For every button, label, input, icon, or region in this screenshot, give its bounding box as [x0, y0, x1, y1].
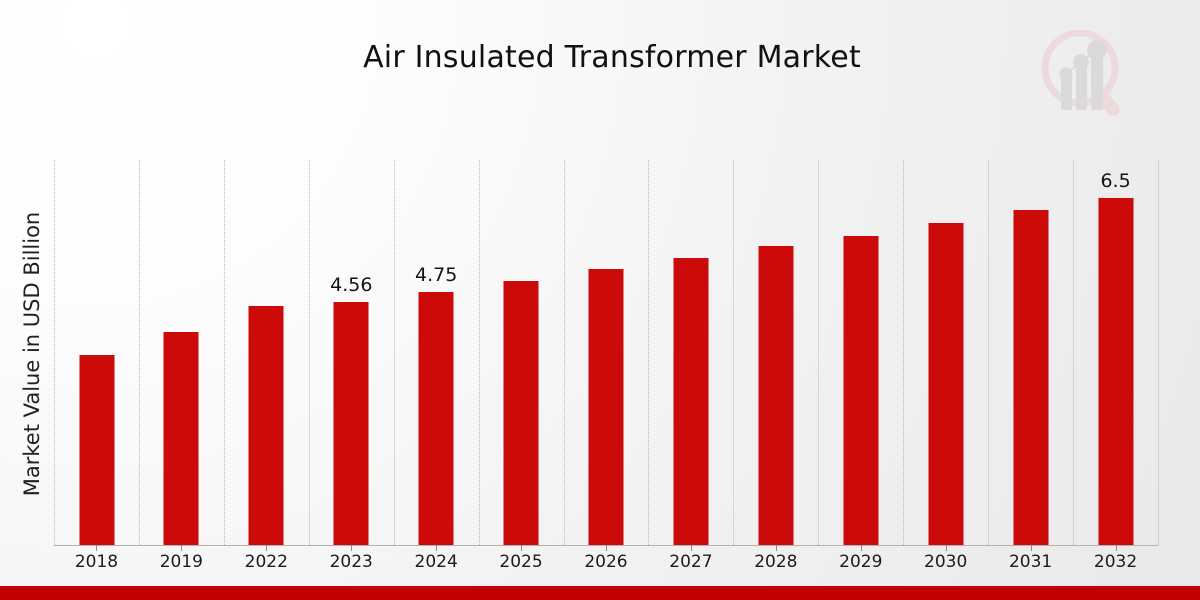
- bar-slot: [903, 160, 988, 545]
- bar-slot: [818, 160, 903, 545]
- chart-page: Air Insulated Transformer Market Market …: [0, 0, 1200, 600]
- bar-value-label-2024: 4.75: [415, 264, 457, 286]
- x-tick-mark: [1031, 545, 1032, 551]
- bar-slot: 6.5: [1073, 160, 1158, 545]
- bar-2022[interactable]: [249, 306, 284, 545]
- bar-slot: [479, 160, 564, 545]
- x-tick-mark: [1116, 545, 1117, 551]
- bar-value-label-2023: 4.56: [330, 274, 372, 296]
- x-tick-mark: [606, 545, 607, 551]
- magnifier-bar-chart-logo: [1034, 24, 1138, 128]
- bar-slot: [564, 160, 649, 545]
- plot-area: 4.564.756.5: [54, 160, 1158, 545]
- bar-2023[interactable]: [334, 302, 369, 545]
- x-tick-mark: [266, 545, 267, 551]
- bar-slot: [139, 160, 224, 545]
- bar-2027[interactable]: [673, 258, 708, 545]
- bar-slot: 4.75: [394, 160, 479, 545]
- bar-slot: [224, 160, 309, 545]
- x-tick-mark: [946, 545, 947, 551]
- x-tick-mark: [181, 545, 182, 551]
- x-tick-mark: [776, 545, 777, 551]
- x-tick-label-2032: 2032: [1056, 552, 1176, 572]
- footer-accent-bar: [0, 586, 1200, 600]
- bar-slot: [733, 160, 818, 545]
- bar-2025[interactable]: [504, 281, 539, 545]
- bar-slot: [988, 160, 1073, 545]
- bar-2029[interactable]: [843, 236, 878, 545]
- bar-2031[interactable]: [1013, 210, 1048, 545]
- bar-2030[interactable]: [928, 223, 963, 545]
- x-tick-mark: [691, 545, 692, 551]
- x-tick-mark: [351, 545, 352, 551]
- gridline: [1158, 160, 1159, 545]
- page-title: Air Insulated Transformer Market: [0, 40, 1200, 75]
- bar-value-label-2032: 6.5: [1100, 170, 1130, 192]
- y-axis-title: Market Value in USD Billion: [20, 154, 44, 554]
- x-tick-mark: [861, 545, 862, 551]
- bar-2032[interactable]: [1098, 198, 1133, 545]
- x-tick-mark: [436, 545, 437, 551]
- bar-2019[interactable]: [164, 332, 199, 545]
- x-tick-mark: [96, 545, 97, 551]
- bar-2026[interactable]: [589, 269, 624, 545]
- bar-slot: 4.56: [309, 160, 394, 545]
- bar-slot: [54, 160, 139, 545]
- bar-2028[interactable]: [758, 246, 793, 545]
- x-tick-mark: [521, 545, 522, 551]
- bar-slot: [648, 160, 733, 545]
- bar-2024[interactable]: [419, 292, 454, 545]
- bar-2018[interactable]: [79, 355, 114, 545]
